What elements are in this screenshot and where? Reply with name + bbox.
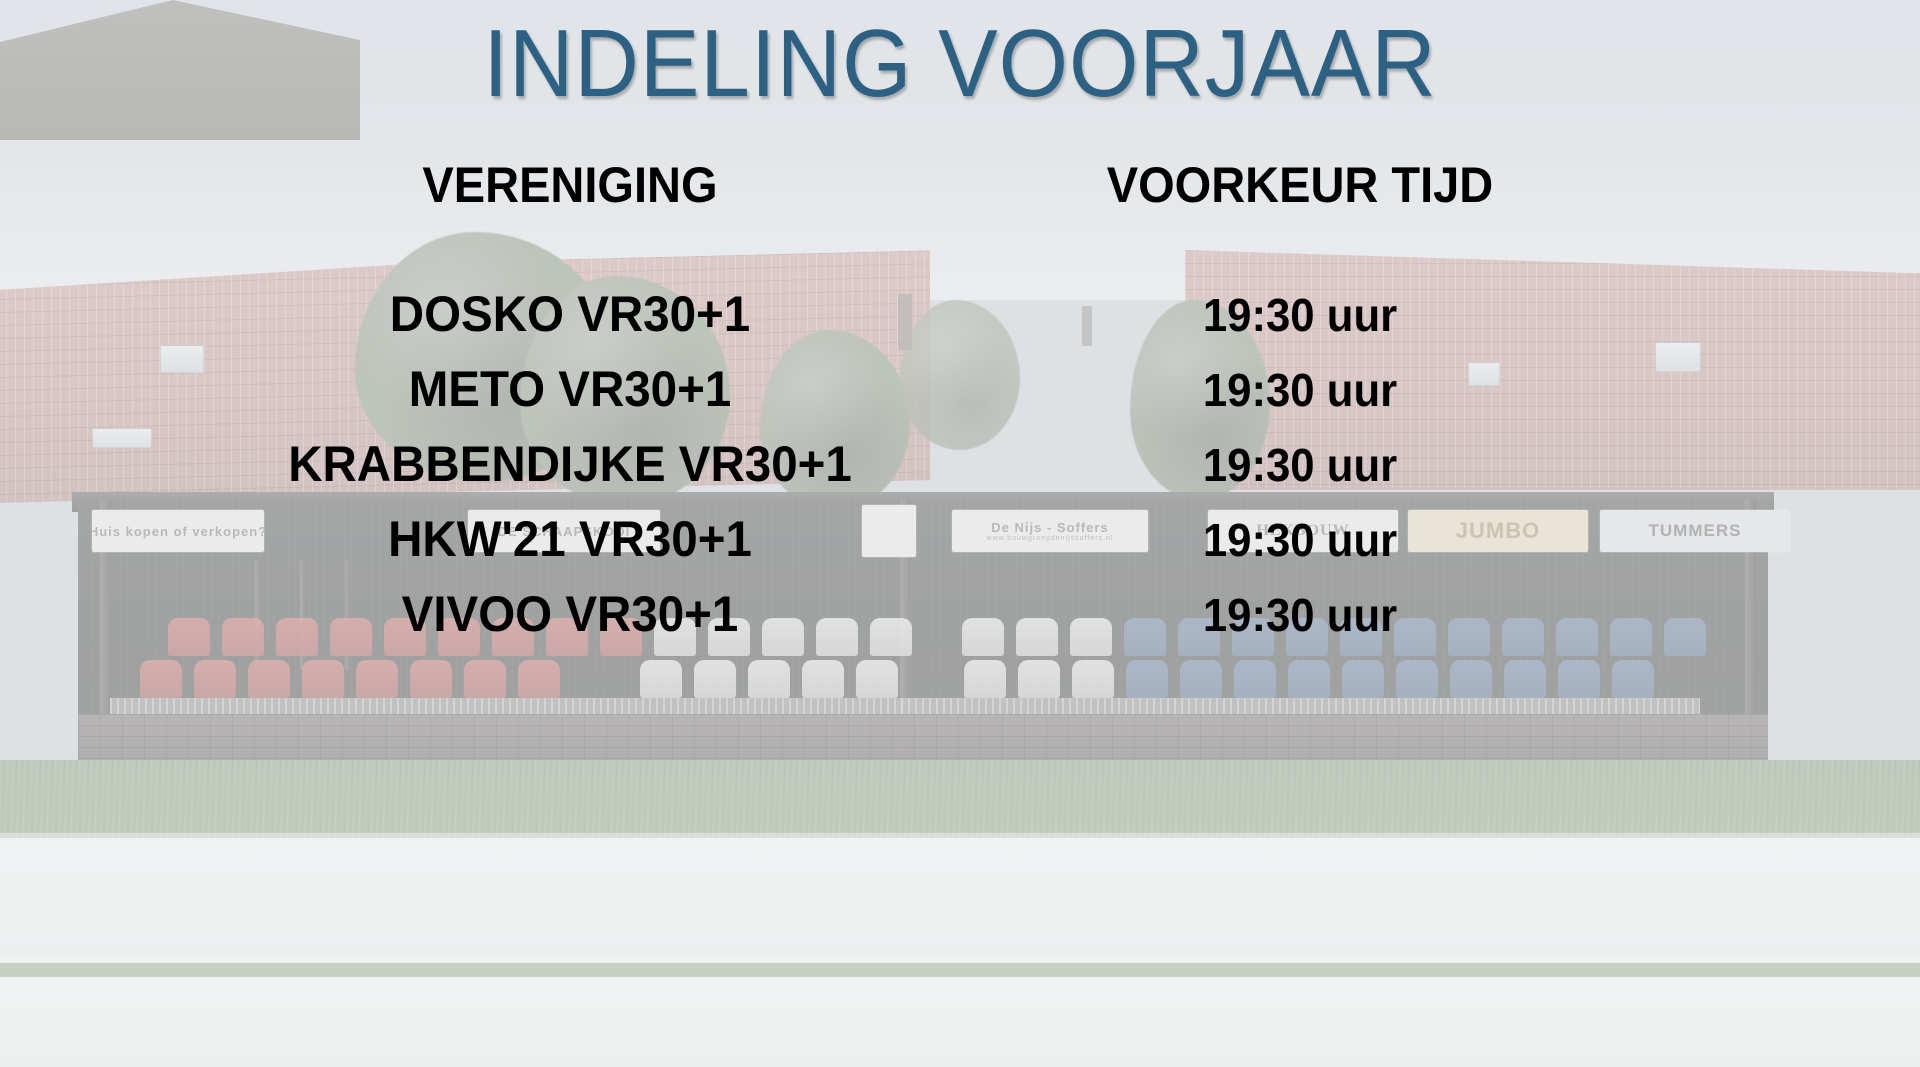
table-row: VIVOO VR30+1 19:30 uur	[240, 584, 1700, 645]
column-header-vereniging: VERENIGING	[260, 160, 880, 210]
table-row: HKW'21 VR30+1 19:30 uur	[240, 509, 1700, 570]
cell-club: KRABBENDIJKE VR30+1	[257, 434, 884, 495]
table-header-row: VERENIGING VOORKEUR TIJD	[240, 160, 1700, 210]
column-header-voorkeur-tijd: VOORKEUR TIJD	[924, 160, 1676, 210]
cell-time: 19:30 uur	[920, 362, 1680, 418]
cell-club: METO VR30+1	[257, 359, 884, 420]
slide-canvas: Huis kopen of verkopen? DE SCHAAPSKOOI D…	[0, 0, 1920, 1067]
table-row: KRABBENDIJKE VR30+1 19:30 uur	[240, 434, 1700, 495]
cell-club: VIVOO VR30+1	[257, 584, 884, 645]
cell-time: 19:30 uur	[920, 437, 1680, 493]
slide-content: INDELING VOORJAAR VERENIGING VOORKEUR TI…	[0, 0, 1920, 1067]
cell-club: DOSKO VR30+1	[257, 284, 884, 345]
cell-time: 19:30 uur	[920, 512, 1680, 568]
cell-time: 19:30 uur	[920, 287, 1680, 343]
schedule-table: VERENIGING VOORKEUR TIJD DOSKO VR30+1 19…	[240, 160, 1700, 659]
cell-club: HKW'21 VR30+1	[257, 509, 884, 570]
table-row: DOSKO VR30+1 19:30 uur	[240, 284, 1700, 345]
cell-time: 19:30 uur	[920, 587, 1680, 643]
table-row: METO VR30+1 19:30 uur	[240, 359, 1700, 420]
page-title: INDELING VOORJAAR	[67, 14, 1853, 115]
